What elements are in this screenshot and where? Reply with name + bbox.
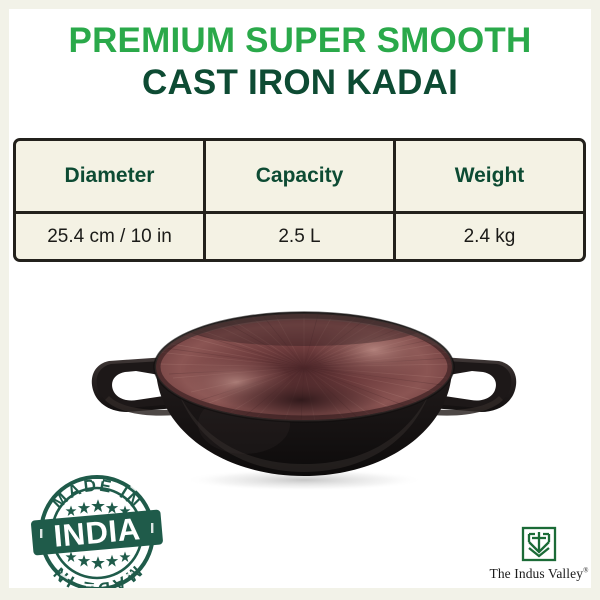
white-canvas: PREMIUM SUPER SMOOTH CAST IRON KADAI Dia… [9,9,591,588]
table-header-capacity: Capacity [203,141,393,211]
headline-line-2: CAST IRON KADAI [9,64,591,102]
table-value-weight: 2.4 kg [393,214,583,259]
table-header-diameter: Diameter [16,141,203,211]
table-row: 25.4 cm / 10 in 2.5 L 2.4 kg [16,211,583,259]
product-image-canvas: PREMIUM SUPER SMOOTH CAST IRON KADAI Dia… [0,0,600,600]
table-value-diameter: 25.4 cm / 10 in [16,214,203,259]
indus-valley-mark-icon [520,525,558,563]
specification-table: Diameter Capacity Weight 25.4 cm / 10 in… [13,138,586,262]
trademark-symbol: ® [583,567,588,575]
made-in-india-stamp-icon: MADE IN MADE IN [26,471,168,588]
table-header-row: Diameter Capacity Weight [16,141,583,211]
table-header-weight: Weight [393,141,583,211]
page-title: PREMIUM SUPER SMOOTH CAST IRON KADAI [9,22,591,102]
table-value-capacity: 2.5 L [203,214,393,259]
headline-line-1: PREMIUM SUPER SMOOTH [9,22,591,60]
stamp-stars-bottom [66,552,131,570]
brand-name: The Indus Valley® [487,566,591,582]
brand-name-text: The Indus Valley [489,566,583,581]
stamp-banner-text: INDIA [52,511,142,553]
brand-logo: The Indus Valley® [487,525,591,582]
